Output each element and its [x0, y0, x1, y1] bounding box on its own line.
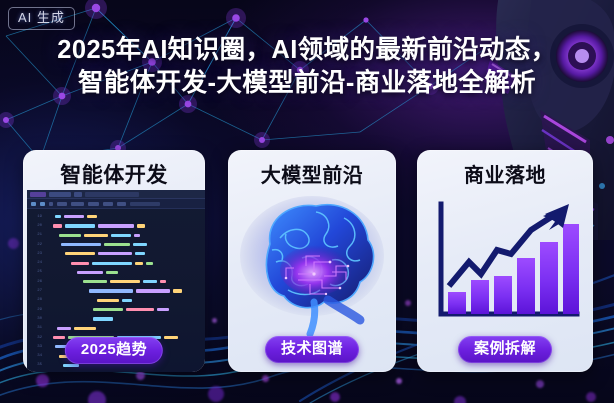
growth-chart-image [417, 190, 593, 338]
card-button-tech-map[interactable]: 技术图谱 [265, 336, 359, 363]
card-button-2025-trend[interactable]: 2025趋势 [65, 337, 163, 364]
poster-canvas: AI 生成 2025年AI知识圈，AI领域的最新前沿动态， 智能体开发-大模型前… [0, 0, 614, 403]
feature-card-agent-development[interactable]: 智能体开发 [23, 150, 205, 372]
chart-bar [540, 242, 558, 314]
title-line-2: 智能体开发-大模型前沿-商业落地全解析 [0, 67, 614, 100]
chart-bar [563, 224, 579, 314]
card-title-business-landing: 商业落地 [417, 150, 593, 188]
bokeh-particle [586, 392, 596, 402]
chart-bar [448, 292, 466, 314]
card-button-case-study[interactable]: 案例拆解 [458, 336, 552, 363]
brain-illustration [228, 188, 396, 338]
bokeh-particle [330, 392, 340, 402]
bokeh-particle [208, 386, 224, 402]
chart-bar [494, 276, 512, 314]
ai-generated-badge: AI 生成 [8, 7, 75, 30]
chart-bar [471, 280, 489, 314]
chart-bar [517, 258, 535, 314]
page-title: 2025年AI知识圈，AI领域的最新前沿动态， 智能体开发-大模型前沿-商业落地… [0, 34, 614, 100]
bokeh-particle [536, 380, 544, 388]
code-editor-toolbar [27, 199, 205, 209]
feature-card-business-landing[interactable]: 商业落地 [417, 150, 593, 372]
card-title-agent-development: 智能体开发 [23, 150, 205, 189]
title-line-1: 2025年AI知识圈，AI领域的最新前沿动态， [57, 36, 556, 64]
code-editor-tabbar [27, 190, 205, 199]
card-title-large-model-frontier: 大模型前沿 [228, 150, 396, 188]
feature-card-row: 智能体开发 [0, 150, 614, 378]
feature-card-large-model-frontier[interactable]: 大模型前沿 [228, 150, 396, 372]
bokeh-particle [396, 378, 402, 384]
bokeh-particle [88, 391, 106, 403]
bokeh-particle [454, 396, 466, 403]
